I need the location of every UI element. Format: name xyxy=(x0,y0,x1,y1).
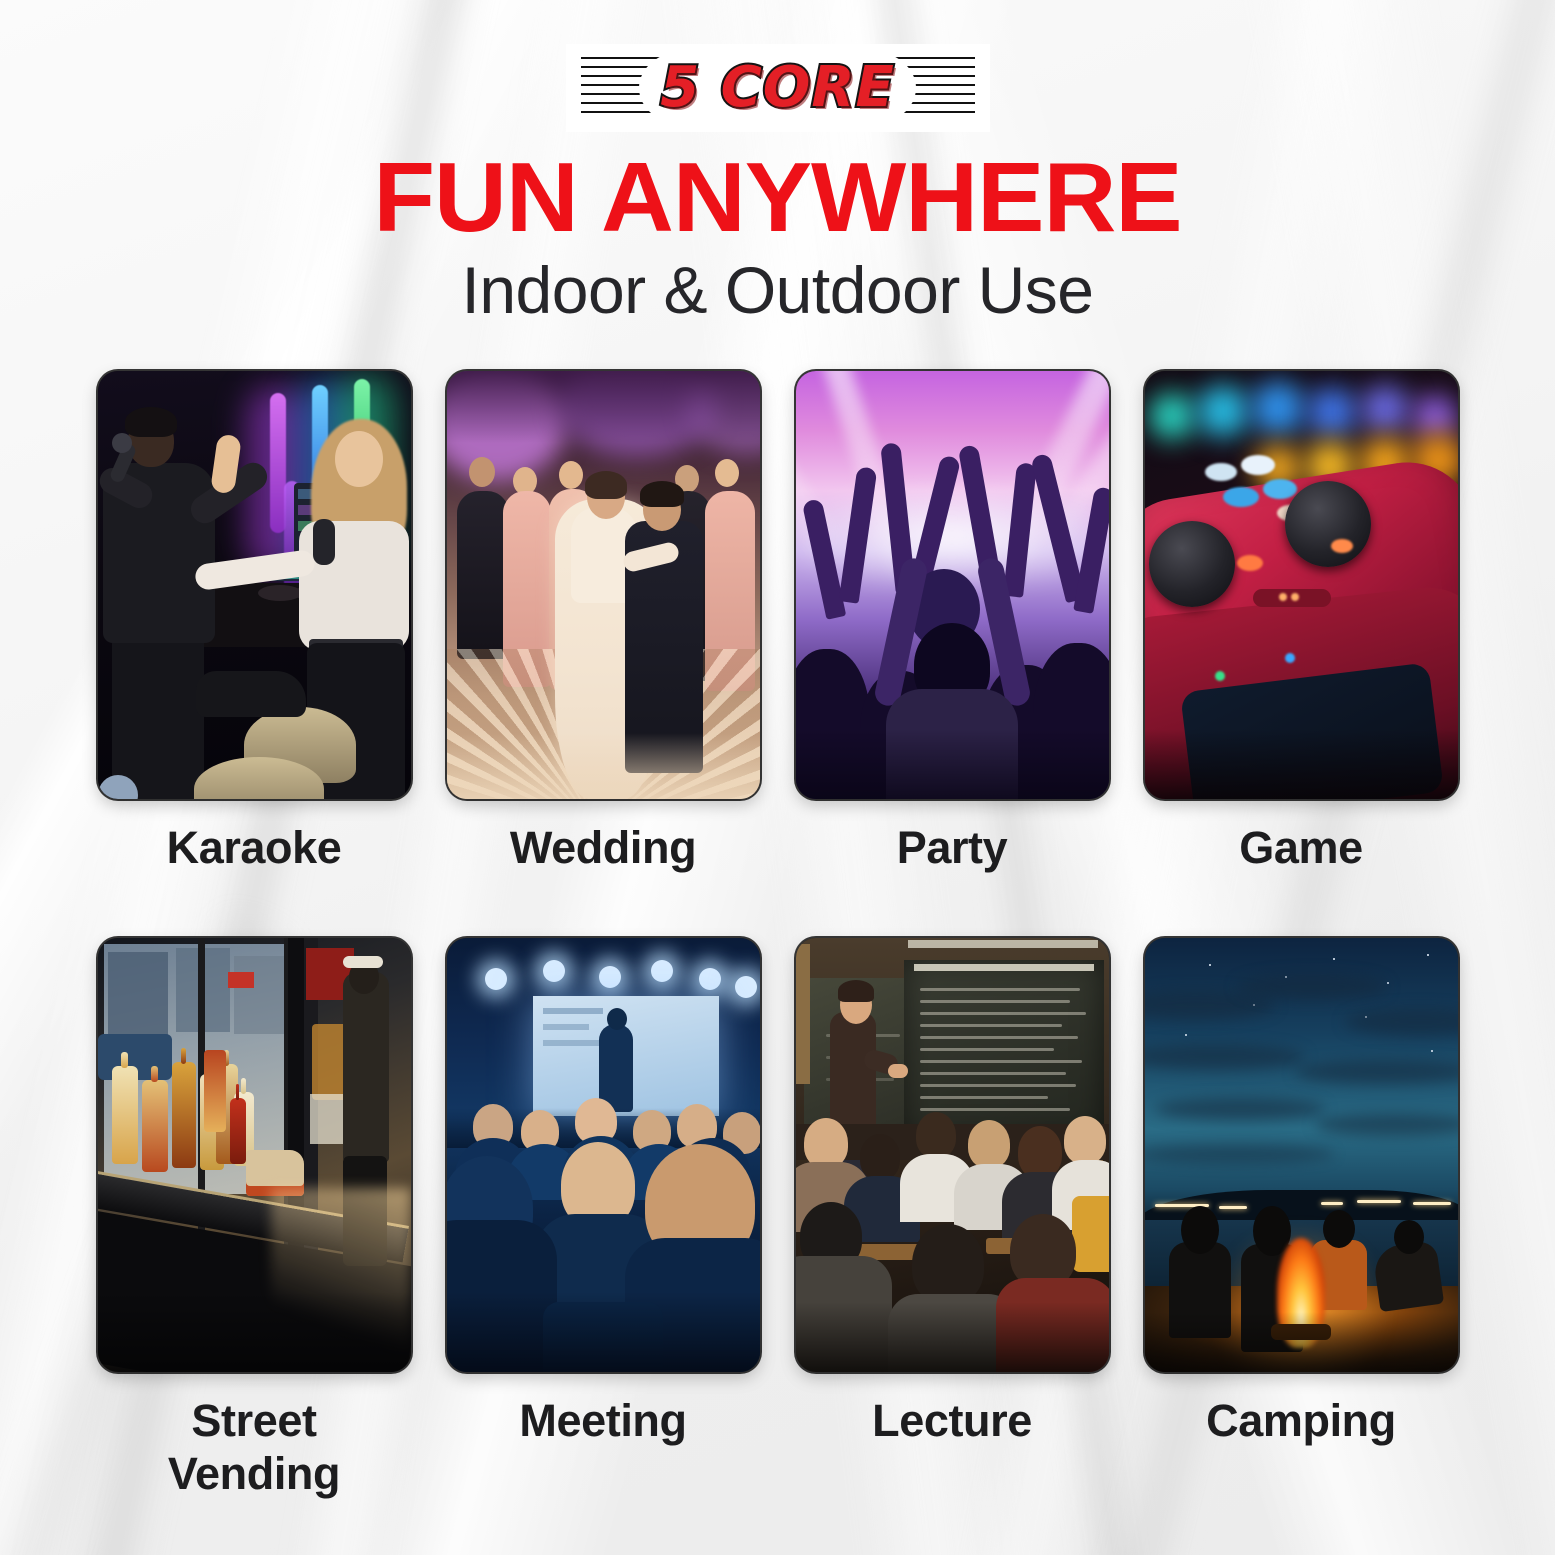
use-case-grid-row-2: Street Vending xyxy=(98,918,1458,1500)
brand-logo: 5 CORE xyxy=(566,44,990,132)
page-title: FUN ANYWHERE xyxy=(0,148,1555,248)
use-case-card-meeting: Meeting xyxy=(447,918,760,1500)
camping-photo xyxy=(1145,938,1458,1372)
use-case-grid-row-1: Karaoke xyxy=(98,371,1458,874)
use-case-card-wedding: Wedding xyxy=(447,371,760,874)
promo-page: 5 CORE FUN ANYWHERE Indoor & Outdoor Use xyxy=(0,0,1555,1555)
party-photo xyxy=(796,371,1109,799)
use-case-label: Lecture xyxy=(872,1394,1032,1447)
wedding-photo xyxy=(447,371,760,799)
use-case-card-lecture: Lecture xyxy=(796,918,1109,1500)
use-case-label: Karaoke xyxy=(167,821,342,874)
game-controller-photo xyxy=(1145,371,1458,799)
use-case-card-game: Game xyxy=(1145,371,1458,874)
use-case-card-camping: Camping xyxy=(1145,918,1458,1500)
use-case-card-karaoke: Karaoke xyxy=(98,371,411,874)
lecture-photo xyxy=(796,938,1109,1372)
use-case-label: Wedding xyxy=(510,821,696,874)
use-case-label: Street Vending xyxy=(168,1394,340,1500)
use-case-label: Party xyxy=(897,821,1008,874)
use-case-label: Camping xyxy=(1206,1394,1396,1447)
meeting-photo xyxy=(447,938,760,1372)
use-case-card-party: Party xyxy=(796,371,1109,874)
header: 5 CORE FUN ANYWHERE Indoor & Outdoor Use xyxy=(0,0,1555,327)
street-vending-photo xyxy=(98,938,411,1372)
brand-logo-text: 5 CORE xyxy=(642,54,913,122)
karaoke-photo xyxy=(98,371,411,799)
use-case-card-street-vending: Street Vending xyxy=(98,918,411,1500)
use-case-label: Game xyxy=(1239,821,1362,874)
page-subtitle: Indoor & Outdoor Use xyxy=(0,254,1555,327)
use-case-label: Meeting xyxy=(519,1394,686,1447)
